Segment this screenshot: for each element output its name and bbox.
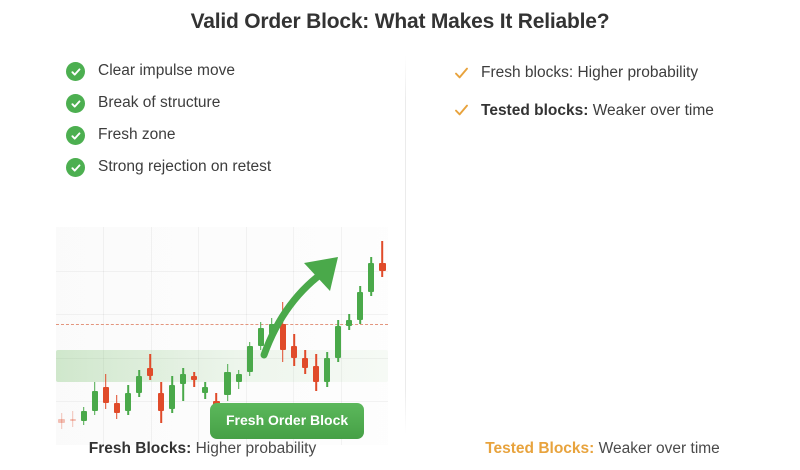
check-icon [453,102,469,120]
check-icon [453,64,469,82]
tested-caption-rest: Weaker over time [594,440,719,457]
tested-bullet-label: Tested blocks: Weaker over time [481,102,714,121]
fresh-bullet-label: Strong rejection on retest [98,158,271,177]
fresh-order-block-badge: Fresh Order Block [210,403,364,439]
tested-caption-lead: Tested Blocks: [485,440,594,457]
fresh-caption-lead: Fresh Blocks: [89,440,192,457]
fresh-bullet-label: Clear impulse move [98,62,235,81]
tested-bullet-label: Fresh blocks: Higher probability [481,64,698,83]
fresh-bullet-list: Clear impulse moveBreak of structureFres… [0,52,405,190]
tested-bullet-list: Fresh blocks: Higher probabilityTested b… [405,52,800,139]
fresh-caption-rest: Higher probability [191,440,316,457]
check-circle-icon [66,126,85,145]
fresh-order-block-chart: Fresh Order Block [56,227,388,445]
tested-bullet-rest: Weaker over time [588,102,713,119]
page-title: Valid Order Block: What Makes It Reliabl… [0,10,800,34]
tested-bullet-item: Tested blocks: Weaker over time [453,102,800,121]
fresh-block-panel: Clear impulse moveBreak of structureFres… [0,52,405,470]
check-circle-icon [66,158,85,177]
fresh-blocks-caption: Fresh Blocks: Higher probability [0,440,405,458]
fresh-bullet-label: Break of structure [98,94,220,113]
tested-blocks-caption: Tested Blocks: Weaker over time [405,440,800,458]
infographic-root: Valid Order Block: What Makes It Reliabl… [0,0,800,470]
fresh-bullet-label: Fresh zone [98,126,176,145]
tested-bullet-item: Fresh blocks: Higher probability [453,64,800,83]
fresh-bullet-item: Fresh zone [66,126,405,145]
check-circle-icon [66,62,85,81]
fresh-bullet-item: Break of structure [66,94,405,113]
fresh-bullet-item: Strong rejection on retest [66,158,405,177]
fresh-bullet-item: Clear impulse move [66,62,405,81]
fresh-order-block-badge-label: Fresh Order Block [226,412,348,430]
check-circle-icon [66,94,85,113]
tested-block-panel: Fresh blocks: Higher probabilityTested b… [405,52,800,470]
tested-bullet-lead: Tested blocks: [481,102,588,119]
